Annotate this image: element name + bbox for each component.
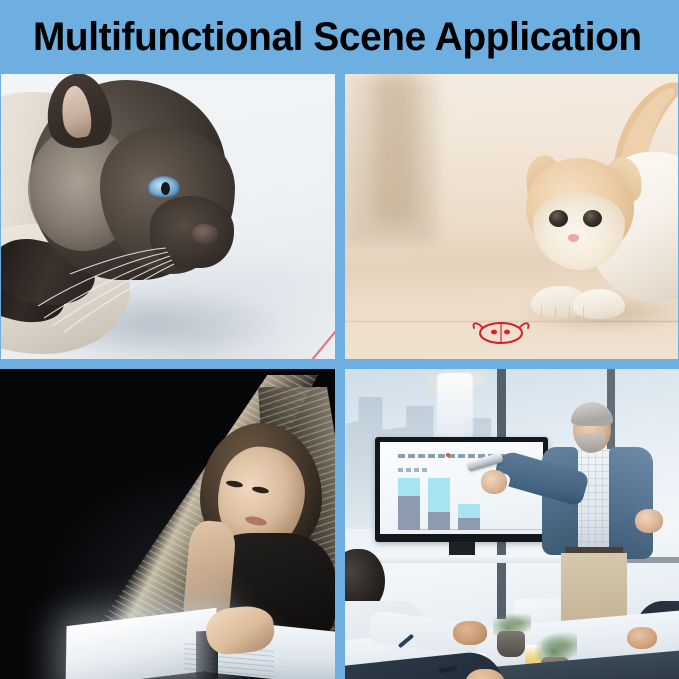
presenter-other-hand [635, 509, 663, 533]
chart-bar-1 [398, 478, 420, 530]
flower-vase [437, 373, 473, 447]
slide-subtitle-text [398, 468, 428, 472]
kitten-right-eye [583, 210, 602, 227]
presenter-jacket-right [609, 447, 653, 559]
display-console [359, 555, 573, 563]
business-meeting-photo [345, 369, 679, 679]
chart-bar-2-cap [428, 478, 450, 512]
girl-reading-photo [0, 369, 335, 679]
table-plant-1-pot [497, 631, 525, 657]
chart-bar-3-cap [458, 504, 480, 518]
cat-pupil [161, 182, 170, 195]
panel-business-meeting [345, 369, 679, 679]
chart-bar-1-stem [398, 496, 420, 530]
laser-beam [296, 332, 335, 359]
kitten-toes [541, 306, 585, 318]
orange-kitten-photo [345, 74, 679, 359]
kitten-nose [568, 234, 579, 242]
background-wall-shadow [373, 74, 417, 224]
panel-cat-kitten [345, 74, 679, 359]
panel-cat-siamese [0, 74, 335, 359]
vertical-divider [335, 74, 345, 679]
product-feature-poster: Multifunctional Scene Application [0, 0, 679, 679]
attendee-3-hand [627, 627, 657, 649]
siamese-cat-photo [0, 74, 335, 359]
presenter-pointing-hand [481, 470, 507, 494]
horizontal-divider [0, 359, 679, 369]
chart-bar-1-cap [398, 478, 420, 496]
chart-bar-2-stem [428, 512, 450, 530]
poster-header: Multifunctional Scene Application [0, 0, 679, 74]
slide-accent-dot [446, 453, 450, 457]
attendee-1-hand [453, 621, 487, 645]
kitten-left-eye [549, 210, 568, 227]
left-edge-trim [0, 74, 1, 359]
chart-bar-3-stem [458, 518, 480, 530]
laser-bug-projection [470, 319, 532, 345]
page-title: Multifunctional Scene Application [33, 12, 634, 62]
chart-bar-2 [428, 478, 450, 530]
panel-girl-reading [0, 369, 335, 679]
chart-bar-3 [458, 504, 480, 530]
